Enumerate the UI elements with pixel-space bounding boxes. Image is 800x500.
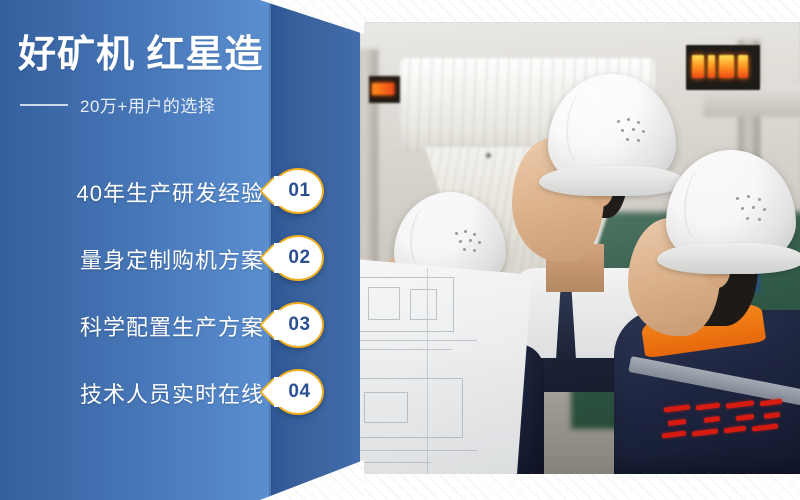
machine-bolt (486, 153, 491, 158)
blueprint-line (427, 268, 428, 474)
led-glyph (692, 55, 704, 78)
feature-label: 科学配置生产方案 (80, 310, 264, 342)
overhead-beam (703, 85, 800, 117)
blueprint-line (360, 340, 477, 341)
info-panel: 好矿机 红星造 20万+用户的选择 40年生产研发经验 01 量身定制购机方案 (0, 0, 360, 500)
feature-label: 40年生产研发经验 (77, 176, 264, 208)
list-item[interactable]: 40年生产研发经验 01 (0, 168, 360, 235)
hard-hat-brim (539, 166, 685, 196)
hero-photo (360, 22, 800, 474)
status-badge: 01 (272, 168, 324, 214)
subtitle: 20万+用户的选择 (80, 92, 215, 117)
feature-label: 技术人员实时在线 (80, 377, 264, 409)
badge-number: 04 (272, 369, 324, 415)
led-glyph (738, 55, 748, 78)
hard-hat-vents (455, 230, 489, 256)
list-item[interactable]: 科学配置生产方案 03 (0, 302, 360, 369)
led-sign (686, 45, 761, 90)
page-title: 好矿机 红星造 (18, 34, 268, 77)
feature-label: 量身定制购机方案 (80, 243, 264, 275)
blueprint-line (360, 462, 431, 463)
hard-hat-ridge (684, 167, 720, 240)
dash-icon (20, 104, 68, 106)
blueprint-box (410, 289, 437, 320)
badge-number: 01 (272, 168, 324, 214)
led-sign-small (369, 76, 400, 103)
list-item[interactable]: 技术人员实时在线 04 (0, 369, 360, 436)
list-item[interactable]: 量身定制购机方案 02 (0, 235, 360, 302)
hard-hat-vents (736, 195, 775, 226)
status-badge: 02 (272, 235, 324, 281)
subtitle-row: 20万+用户的选择 (20, 92, 215, 117)
badge-number: 02 (272, 235, 324, 281)
led-glyph (719, 55, 734, 78)
blueprint-box (364, 392, 408, 423)
hard-hat-vents (617, 118, 655, 148)
blueprint-drawing (360, 258, 532, 474)
led-glyph (708, 55, 715, 78)
blueprint-box (368, 287, 399, 320)
status-badge: 03 (272, 302, 324, 348)
hard-hat-ridge (410, 206, 441, 268)
hard-hat-ridge (566, 90, 601, 162)
hard-hat-brim (657, 243, 800, 274)
status-badge: 04 (272, 369, 324, 415)
badge-number: 03 (272, 302, 324, 348)
coverall-embroidery (660, 400, 800, 462)
photo-content (360, 22, 800, 474)
blueprint-line (360, 450, 477, 451)
banner-root: 好矿机 红星造 20万+用户的选择 40年生产研发经验 01 量身定制购机方案 (0, 0, 800, 500)
led-glyph (372, 83, 394, 95)
blueprint-line (360, 349, 452, 350)
feature-list: 40年生产研发经验 01 量身定制购机方案 02 科学配置生产方 (0, 168, 360, 436)
